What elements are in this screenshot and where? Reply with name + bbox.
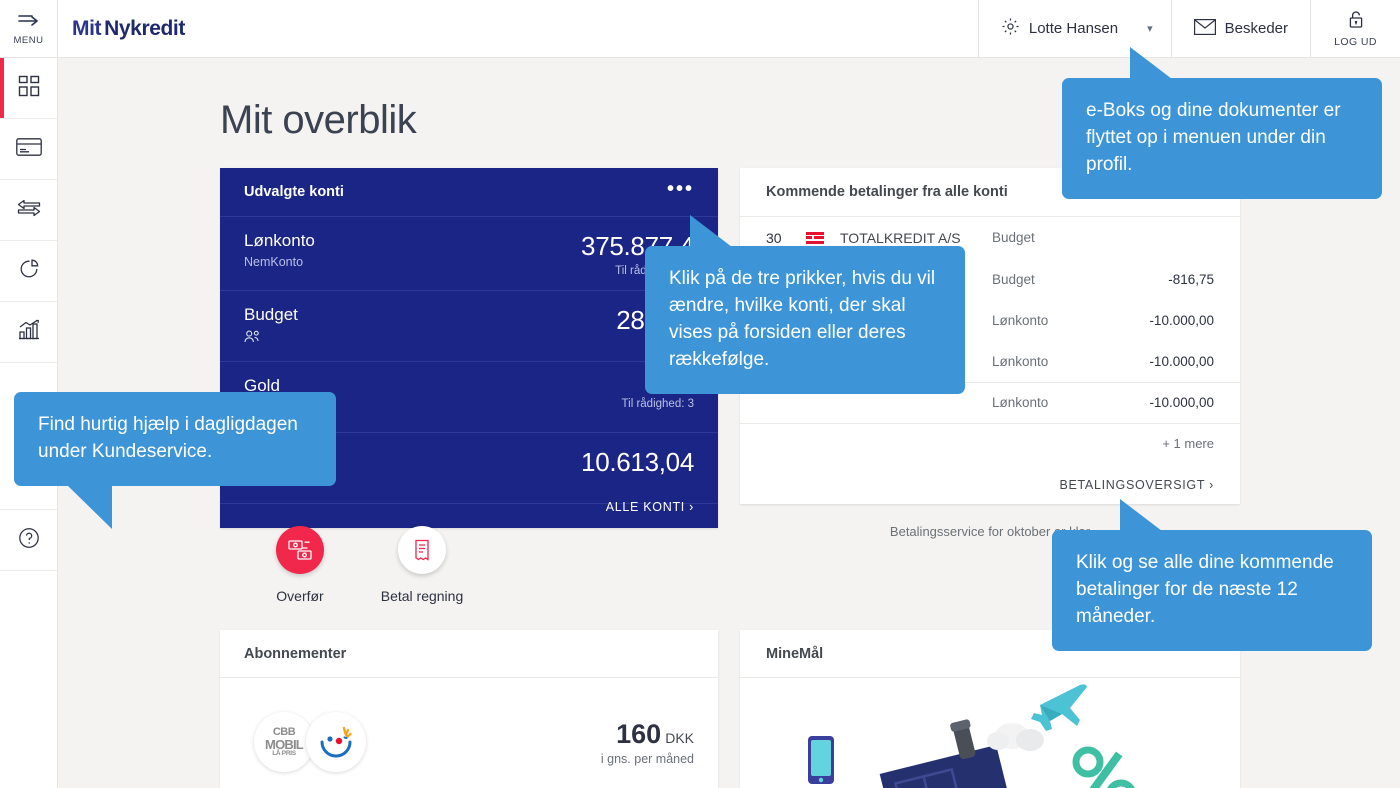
credit-card-icon — [16, 138, 42, 161]
quick-action-pay-bill[interactable]: Betal regning — [376, 526, 468, 604]
tooltip-eboks[interactable]: e-Boks og dine dokumenter er flyttet op … — [1062, 78, 1382, 199]
payment-account: Lønkonto — [992, 395, 1110, 410]
percent-illustration — [1076, 750, 1133, 788]
transfer-money-icon — [276, 526, 324, 574]
lock-icon — [1347, 10, 1365, 34]
sidebar-item-help[interactable] — [0, 510, 57, 571]
tooltip-three-dots[interactable]: Klik på de tre prikker, hvis du vil ændr… — [645, 246, 965, 394]
account-available: Til rådighed: 3 — [622, 398, 694, 410]
quick-action-label: Overfør — [276, 588, 323, 604]
all-accounts-link[interactable]: ALLE KONTI › — [606, 500, 694, 514]
payments-overview-link[interactable]: BETALINGSOVERSIGT › — [740, 464, 1240, 506]
payment-account: Lønkonto — [992, 354, 1110, 369]
payment-account: Budget — [992, 230, 1110, 245]
question-circle-icon — [18, 527, 40, 554]
tooltip-arrow — [1130, 47, 1172, 79]
quick-action-transfer[interactable]: Overfør — [254, 526, 346, 604]
tooltip-kundeservice[interactable]: Find hurtig hjælp i dagligdagen under Ku… — [14, 392, 336, 486]
tooltip-arrow — [1120, 499, 1162, 531]
tooltip-text: e-Boks og dine dokumenter er flyttet op … — [1086, 100, 1341, 175]
subscriptions-amount-block: 160DKK i gns. per måned — [601, 719, 694, 766]
tooltip-arrow — [690, 215, 732, 247]
logout-button[interactable]: LOG UD — [1310, 0, 1400, 57]
account-row[interactable]: Budget 287.14 — [220, 291, 718, 362]
sidebar-item-transfer[interactable] — [0, 180, 57, 241]
subscriptions-amount: 160 — [616, 719, 661, 749]
menu-arrow-icon — [17, 12, 41, 32]
account-name: Lønkonto — [244, 231, 315, 251]
quick-action-label: Betal regning — [381, 588, 464, 604]
topbar-spacer — [185, 0, 978, 57]
subscriptions-subtitle: i gns. per måned — [601, 752, 694, 766]
shared-users-icon — [244, 330, 298, 346]
goals-card: MineMål — [740, 630, 1240, 788]
payment-day: 30 — [766, 230, 806, 246]
goals-illustration — [740, 678, 1240, 788]
subscription-logos: CBB MOBIL LÅ PRIS — [254, 712, 366, 772]
three-dots-icon[interactable]: ••• — [667, 189, 694, 195]
subscriptions-card: Abonnementer CBB MOBIL LÅ PRIS — [220, 630, 718, 788]
quick-actions: Overfør Betal regning — [254, 526, 468, 604]
brand-logo[interactable]: Mit Nykredit — [58, 0, 185, 57]
payment-amount: -10.000,00 — [1110, 354, 1214, 369]
messages-label: Beskeder — [1225, 20, 1288, 37]
subscriptions-currency: DKK — [665, 730, 694, 746]
brand-nykredit: Nykredit — [104, 17, 185, 41]
payment-amount: -816,75 — [1110, 272, 1214, 287]
grid-icon — [18, 75, 40, 102]
sidebar-item-cards[interactable] — [0, 119, 57, 180]
tooltip-text: Klik og se alle dine kommende betalinger… — [1076, 552, 1334, 627]
sidebar-item-overview[interactable] — [0, 58, 57, 119]
cloud-illustration — [987, 723, 1044, 751]
app-root: MENU Mit Nykredit Lotte Hansen ▾ Beskede… — [0, 0, 1400, 788]
payment-amount: -10.000,00 — [1110, 313, 1214, 328]
pie-chart-icon — [18, 258, 40, 285]
payment-payee: TOTALKREDIT A/S — [840, 230, 992, 246]
tooltip-text: Find hurtig hjælp i dagligdagen under Ku… — [38, 414, 298, 462]
messages-button[interactable]: Beskeder — [1171, 0, 1310, 57]
logout-label: LOG UD — [1334, 36, 1377, 48]
sidebar-item-investments[interactable] — [0, 302, 57, 363]
account-name: Budget — [244, 305, 298, 325]
sidebar-item-pie[interactable] — [0, 241, 57, 302]
tooltip-text: Klik på de tre prikker, hvis du vil ændr… — [669, 268, 935, 370]
brand-mit: Mit — [72, 17, 101, 41]
chevron-down-icon: ▾ — [1147, 22, 1153, 35]
payment-account: Budget — [992, 272, 1110, 287]
top-bar: MENU Mit Nykredit Lotte Hansen ▾ Beskede… — [0, 0, 1400, 58]
subscriptions-title: Abonnementer — [220, 630, 718, 678]
account-row[interactable]: Lønkonto NemKonto 375.877,4 Til rådighed… — [220, 217, 718, 291]
denmark-flag-icon — [806, 232, 840, 244]
cbb-line2: MOBIL — [265, 738, 303, 751]
invoice-icon — [398, 526, 446, 574]
airplane-illustration — [1031, 684, 1087, 731]
payments-more-label[interactable]: + 1 mere — [740, 424, 1240, 464]
selected-accounts-header: Udvalgte konti ••• — [220, 168, 718, 217]
tooltip-payments[interactable]: Klik og se alle dine kommende betalinger… — [1052, 530, 1372, 651]
cbb-mobil-logo-icon: CBB MOBIL LÅ PRIS — [254, 712, 314, 772]
menu-button[interactable]: MENU — [0, 0, 58, 57]
transfer-arrows-icon — [16, 198, 42, 223]
selected-accounts-title: Udvalgte konti — [244, 184, 344, 200]
smiley-logo-icon — [306, 712, 366, 772]
account-balance: 10.613,04 — [581, 447, 694, 478]
phone-illustration — [808, 736, 834, 784]
subscriptions-body: CBB MOBIL LÅ PRIS — [220, 678, 718, 772]
page-title: Mit overblik — [220, 98, 416, 143]
gear-icon — [1001, 17, 1020, 40]
house-illustration — [872, 714, 1018, 788]
tooltip-arrow — [67, 485, 112, 529]
bar-chart-trend-icon — [17, 319, 41, 346]
profile-name: Lotte Hansen — [1029, 20, 1118, 37]
envelope-icon — [1194, 19, 1216, 39]
menu-label: MENU — [14, 35, 44, 46]
payment-amount: -10.000,00 — [1110, 395, 1214, 410]
account-sub: NemKonto — [244, 255, 315, 269]
payment-account: Lønkonto — [992, 313, 1110, 328]
